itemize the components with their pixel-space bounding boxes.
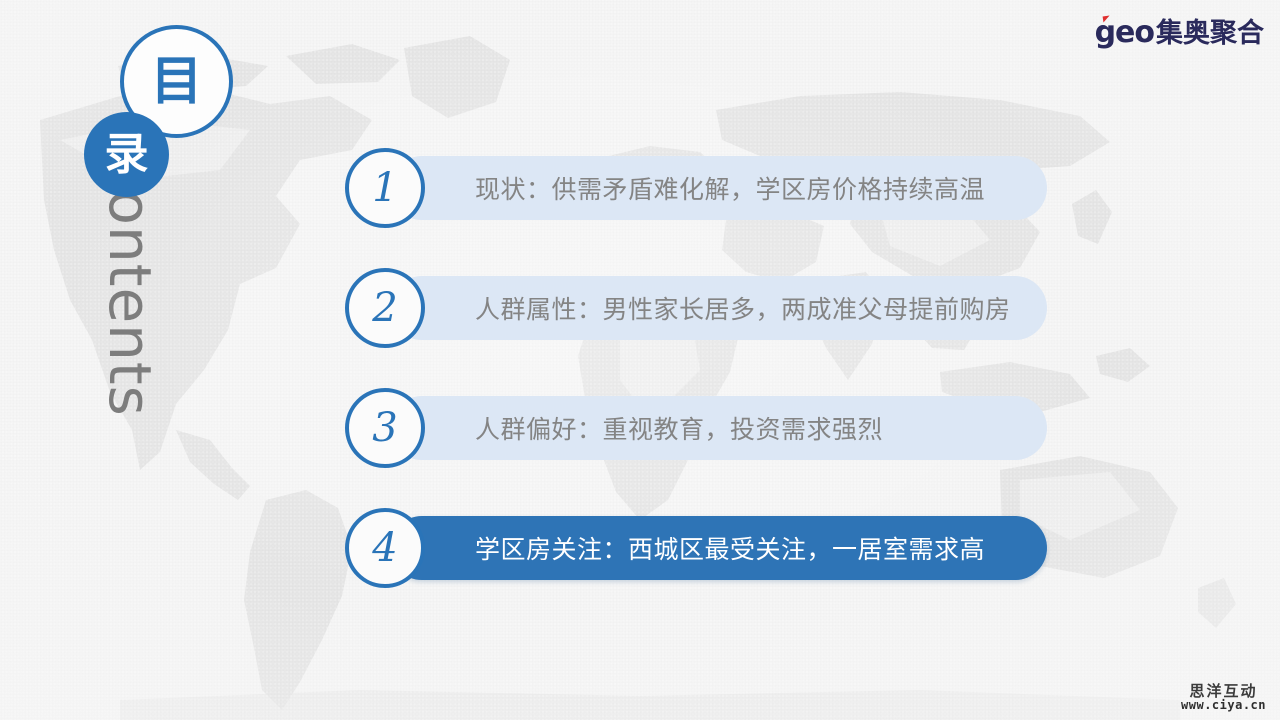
title-char-mu: 目: [150, 56, 202, 108]
agenda-badge-1: 1: [345, 148, 425, 228]
watermark-chinese: 思洋互动: [1181, 684, 1266, 700]
agenda-pill-2[interactable]: 人群属性：男性家长居多，两成准父母提前购房: [390, 276, 1047, 340]
agenda-item-1[interactable]: 现状：供需矛盾难化解，学区房价格持续高温 1: [345, 148, 1065, 228]
title-cluster: 目 录 Contents: [0, 0, 340, 460]
brand-logo: geo 集奥聚合: [1095, 18, 1264, 48]
watermark-url: www.ciya.cn: [1181, 699, 1266, 712]
agenda-item-4[interactable]: 学区房关注：西城区最受关注，一居室需求高 4: [345, 508, 1065, 588]
brand-logo-accent-icon: [1102, 16, 1110, 23]
title-circle-lu: 录: [84, 112, 169, 197]
agenda-badge-2: 2: [345, 268, 425, 348]
slide-canvas: geo 集奥聚合 目 录 Contents 现状：供需矛盾难化解，学区房价格持续…: [0, 0, 1280, 720]
agenda-label-2: 人群属性：男性家长居多，两成准父母提前购房: [475, 290, 1011, 326]
agenda-label-4: 学区房关注：西城区最受关注，一居室需求高: [475, 530, 985, 566]
brand-logo-chinese: 集奥聚合: [1156, 20, 1264, 47]
agenda-number-4: 4: [372, 528, 397, 568]
agenda-item-2[interactable]: 人群属性：男性家长居多，两成准父母提前购房 2: [345, 268, 1065, 348]
agenda-number-2: 2: [372, 288, 397, 328]
agenda-pill-3[interactable]: 人群偏好：重视教育，投资需求强烈: [390, 396, 1047, 460]
agenda-list: 现状：供需矛盾难化解，学区房价格持续高温 1 人群属性：男性家长居多，两成准父母…: [345, 148, 1065, 588]
agenda-badge-3: 3: [345, 388, 425, 468]
agenda-pill-4[interactable]: 学区房关注：西城区最受关注，一居室需求高: [390, 516, 1047, 580]
agenda-label-1: 现状：供需矛盾难化解，学区房价格持续高温: [475, 170, 985, 206]
agenda-item-3[interactable]: 人群偏好：重视教育，投资需求强烈 3: [345, 388, 1065, 468]
agenda-pill-1[interactable]: 现状：供需矛盾难化解，学区房价格持续高温: [390, 156, 1047, 220]
footer-watermark: 思洋互动 www.ciya.cn: [1181, 684, 1266, 712]
agenda-number-1: 1: [372, 168, 397, 208]
title-char-lu: 录: [105, 133, 149, 177]
agenda-badge-4: 4: [345, 508, 425, 588]
agenda-number-3: 3: [372, 408, 397, 448]
brand-logo-latin: geo: [1095, 18, 1154, 48]
agenda-label-3: 人群偏好：重视教育，投资需求强烈: [475, 410, 883, 446]
